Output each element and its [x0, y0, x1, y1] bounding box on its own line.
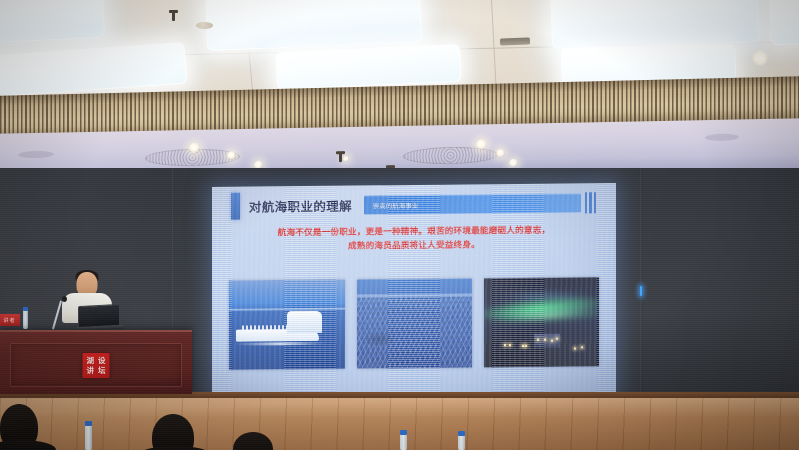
water-bottle: [85, 425, 92, 450]
title-tick-marks: [585, 190, 597, 217]
podium-seal-emblem: 湖 设 讲 坛: [83, 353, 110, 378]
recessed-downlight: [343, 156, 349, 162]
ceiling-oval-fixture: [705, 133, 739, 141]
recessed-spotlight: [752, 50, 768, 66]
microphone-head: [62, 296, 67, 302]
water-bottle: [23, 310, 28, 329]
recessed-downlight: [496, 149, 505, 158]
seal-char-2: 设: [96, 355, 108, 366]
name-placard: 讲 者: [0, 314, 20, 326]
slide-photo-cruise-ship: [229, 280, 344, 370]
ceiling-vent: [500, 37, 530, 45]
presentation-slide: 对航海职业的理解 崇高的航海事业 航海不仅是一份职业，更是一种精神。艰苦的环境最…: [212, 183, 616, 399]
podium: 湖 设 讲 坛: [0, 330, 192, 394]
slide-photo-row: [229, 278, 599, 371]
indicator-led: [640, 286, 642, 296]
title-accent-bar: [231, 193, 241, 220]
smoke-detector-icon: [196, 22, 213, 29]
recessed-downlight: [509, 159, 518, 168]
seal-char-3: 讲: [85, 366, 97, 377]
led-display-wall[interactable]: 对航海职业的理解 崇高的航海事业 航海不仅是一份职业，更是一种精神。艰苦的环境最…: [212, 183, 616, 399]
lecture-hall-scene: 对航海职业的理解 崇高的航海事业 航海不仅是一份职业，更是一种精神。艰苦的环境最…: [0, 0, 799, 450]
ceiling-panel-light: [205, 0, 422, 51]
water-bottle: [458, 435, 465, 450]
ceiling-oval-fixture: [18, 151, 54, 159]
ceiling-panel-light: [0, 42, 187, 99]
water-bottle: [400, 434, 407, 450]
bottle-cap: [85, 421, 92, 426]
bottle-cap: [400, 430, 407, 435]
slide-photo-rough-sea: [357, 279, 472, 369]
seal-char-1: 湖: [85, 355, 97, 366]
name-placard-text: 讲 者: [3, 317, 14, 324]
ceiling-panel-light: [550, 0, 760, 50]
ceiling-panel-light: [0, 0, 105, 44]
slide-subtitle: 崇高的航海事业: [364, 200, 419, 211]
sprinkler-head: [172, 12, 175, 21]
slide-title-bar: 对航海职业的理解 崇高的航海事业: [231, 190, 597, 220]
slide-title: 对航海职业的理解: [249, 196, 352, 216]
ceiling-panel-light: [769, 0, 799, 45]
seal-char-4: 坛: [96, 366, 108, 377]
bottle-cap: [458, 431, 465, 436]
sprinkler-head: [339, 153, 342, 162]
slide-body: 航海不仅是一份职业，更是一种精神。艰苦的环境最能磨砺人的意志， 成熟的海员品质将…: [240, 224, 587, 255]
slide-subtitle-badge: 崇高的航海事业: [364, 193, 581, 214]
bottle-cap: [23, 307, 28, 311]
slide-photo-aurora: [484, 278, 599, 368]
ceiling-panel-light: [275, 44, 462, 90]
